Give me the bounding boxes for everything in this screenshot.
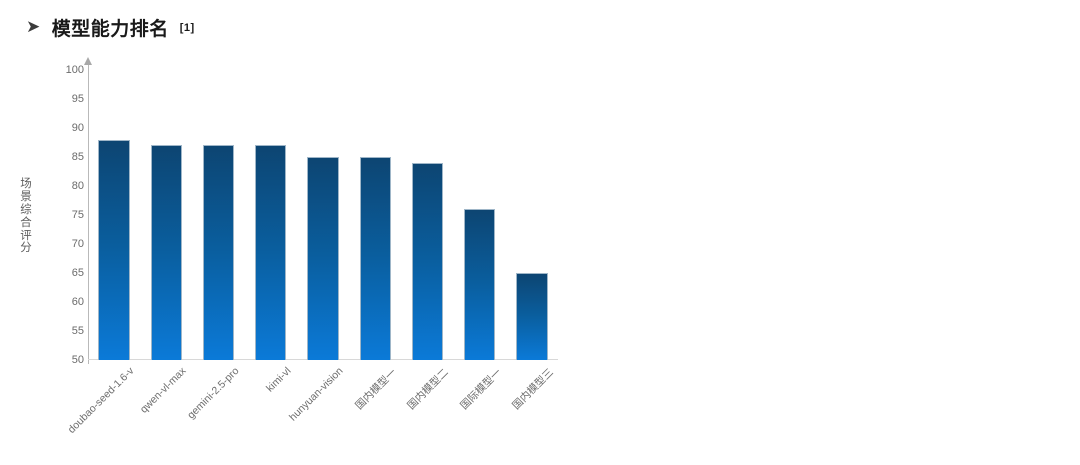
bar-chart-bar bbox=[203, 145, 234, 360]
bar-chart-y-tick: 95 bbox=[50, 93, 84, 105]
bar-chart-y-tick: 90 bbox=[50, 122, 84, 134]
bar-chart-x-label: 国际模型一 bbox=[457, 365, 505, 413]
left-heading-superscript: [1] bbox=[180, 22, 195, 34]
bar-chart-x-label: doubao-seed-1.6-v bbox=[66, 365, 137, 436]
left-panel: ➤ 模型能力排名[1] 场景综合评分 505560657075808590951… bbox=[0, 0, 585, 447]
bar-chart-bar bbox=[360, 157, 391, 360]
bar-chart-bar bbox=[516, 273, 547, 360]
bar-chart-x-label: 国内模型二 bbox=[404, 365, 452, 413]
bar-chart-bar bbox=[98, 140, 129, 360]
bar-chart-y-tick: 80 bbox=[50, 180, 84, 192]
bar-chart-x-label: 国内模型一 bbox=[352, 365, 400, 413]
bar-chart-x-label: gemini-2.5-pro bbox=[185, 365, 241, 421]
bar-chart: 场景综合评分 50556065707580859095100 doubao-se… bbox=[26, 60, 566, 440]
bar-chart-y-tick: 60 bbox=[50, 296, 84, 308]
bar-chart-y-tick: 50 bbox=[50, 354, 84, 366]
bar-chart-x-label: hunyuan-vision bbox=[287, 365, 345, 423]
bar-chart-y-axis-arrow-icon bbox=[84, 57, 92, 65]
bar-chart-y-axis-title: 场景综合评分 bbox=[18, 178, 34, 255]
left-chart-heading: ➤ 模型能力排名[1] bbox=[26, 14, 195, 41]
bar-chart-x-label: 国内模型三 bbox=[509, 365, 557, 413]
bar-chart-bar bbox=[255, 145, 286, 360]
bar-chart-y-axis-ticks: 50556065707580859095100 bbox=[38, 70, 84, 360]
bullet-arrow-icon: ➤ bbox=[26, 18, 41, 35]
bar-chart-x-label: kimi-vl bbox=[264, 365, 294, 395]
bar-chart-x-label: qwen-vl-max bbox=[138, 365, 189, 416]
bar-chart-y-tick: 65 bbox=[50, 267, 84, 279]
bar-chart-bar bbox=[412, 163, 443, 360]
bar-chart-y-tick: 100 bbox=[50, 64, 84, 76]
bar-chart-bar bbox=[307, 157, 338, 360]
left-heading-text: 模型能力排名 bbox=[52, 14, 169, 41]
bar-chart-y-tick: 55 bbox=[50, 325, 84, 337]
bar-chart-bars bbox=[88, 70, 558, 360]
bar-chart-bar bbox=[464, 209, 495, 360]
bar-chart-y-tick: 70 bbox=[50, 238, 84, 250]
bar-chart-x-axis-labels: doubao-seed-1.6-vqwen-vl-maxgemini-2.5-p… bbox=[88, 365, 568, 465]
bar-chart-bar bbox=[151, 145, 182, 360]
bar-chart-y-tick: 85 bbox=[50, 151, 84, 163]
bar-chart-y-tick: 75 bbox=[50, 209, 84, 221]
right-panel: ➤ 头部模型能力对比 物流单其他企业管理单据发票收据检验单加工单 0204060… bbox=[585, 0, 1080, 447]
